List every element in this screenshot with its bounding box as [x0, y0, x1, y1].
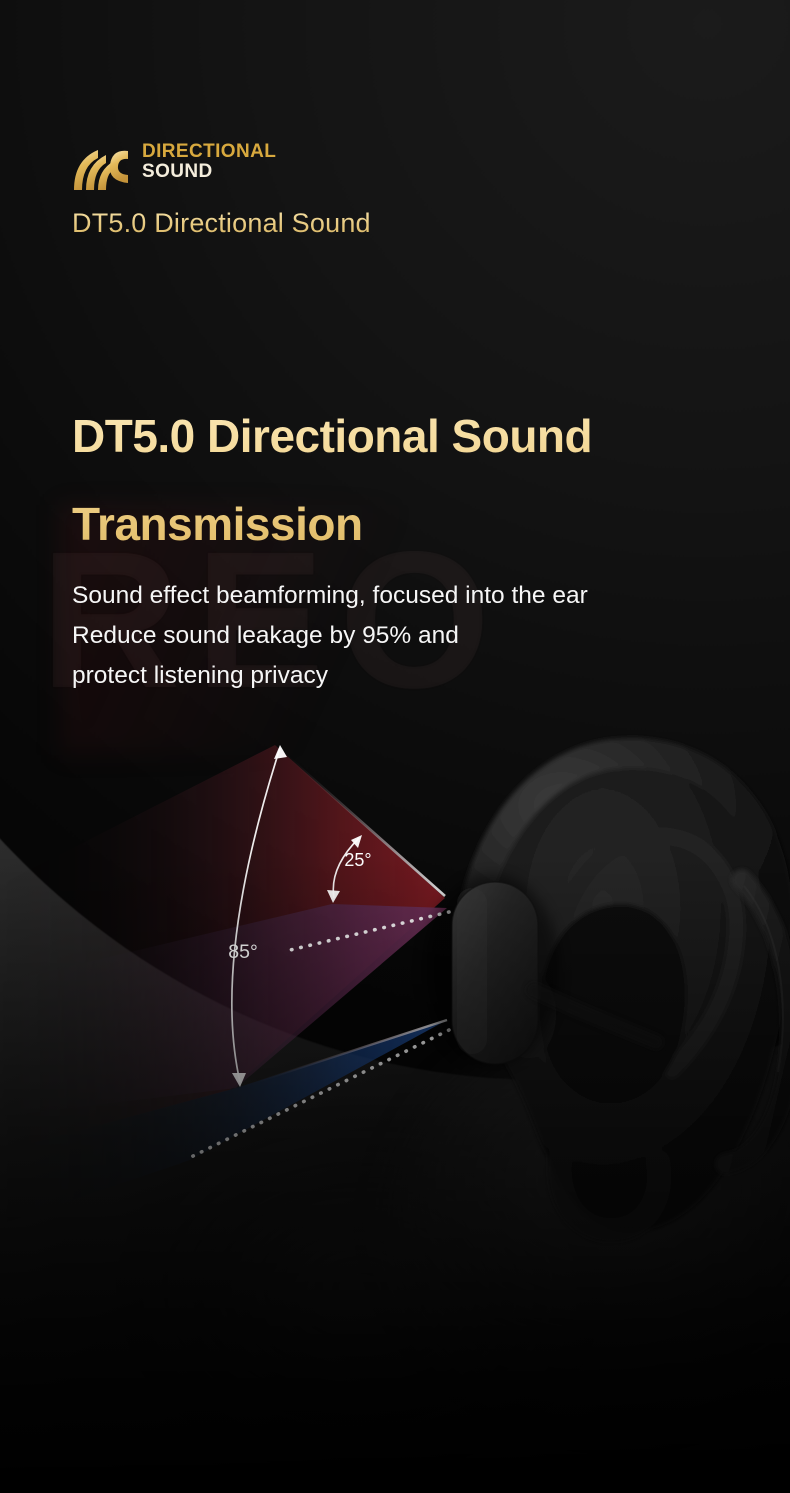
feature-description: Sound effect beamforming, focused into t…: [72, 576, 772, 696]
bottom-vignette: [0, 853, 790, 1493]
headline-line-2: Transmission: [72, 480, 752, 568]
brand-subheading: DT5.0 Directional Sound: [72, 208, 371, 239]
sound-wave-arcs-icon: [72, 144, 130, 190]
logo-line-sound: SOUND: [142, 162, 276, 182]
headline-line-1: DT5.0 Directional Sound: [72, 392, 752, 480]
logo-line-directional: DIRECTIONAL: [142, 142, 276, 162]
brand-logo-words: DIRECTIONAL SOUND: [142, 142, 276, 182]
brand-logo-lockup: DIRECTIONAL SOUND: [72, 142, 276, 190]
page-title: DT5.0 Directional Sound Transmission: [72, 392, 752, 568]
body-line-1: Sound effect beamforming, focused into t…: [72, 576, 772, 616]
body-line-2: Reduce sound leakage by 95% and: [72, 616, 772, 656]
product-feature-poster: REO DIRECTIONAL SOUND DT5.0 Directional …: [0, 0, 790, 1493]
